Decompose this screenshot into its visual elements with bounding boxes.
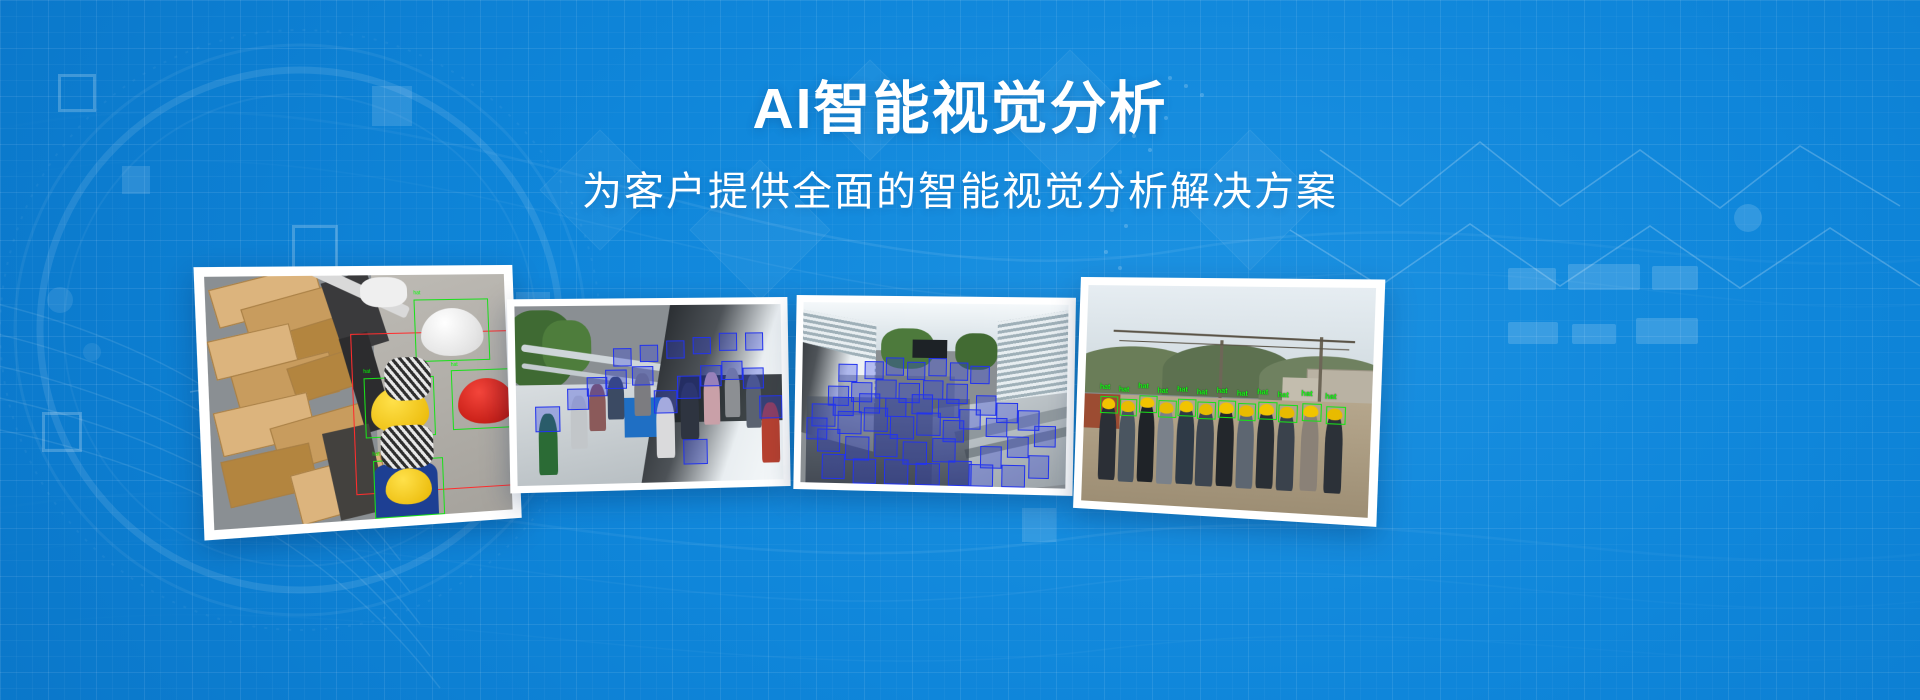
detection-box-person-11 <box>759 395 783 418</box>
detection-box-hat <box>1258 401 1278 420</box>
detection-box-hat <box>1278 404 1298 423</box>
detection-label-hat: hat <box>1257 389 1268 398</box>
ai-vision-banner: AI智能视觉分析 为客户提供全面的智能视觉分析解决方案 <box>0 0 1920 700</box>
detection-box-hat <box>1139 395 1158 413</box>
detection-box-hat-1 <box>414 298 491 362</box>
detection-box-person-15 <box>692 336 711 354</box>
detection-label-hat: hat <box>1325 393 1337 402</box>
detection-label-hat: hat <box>1301 390 1313 399</box>
detection-box-person-9 <box>721 361 742 381</box>
gallery-item-outdoor-hardhat-detection[interactable]: hat hat hat hat hat hat hat hat <box>1073 277 1385 527</box>
gallery-item-station-platform-crowd-detection[interactable] <box>793 295 1076 496</box>
gallery-item-warehouse-helmet-detection[interactable]: hat hat hat hat <box>193 265 521 541</box>
photo-4-scene: hat hat hat hat hat hat hat hat <box>1081 285 1376 518</box>
detection-box-person-1 <box>535 406 560 432</box>
detection-label-hat: hat <box>1138 383 1149 391</box>
photo-3-scene <box>800 302 1068 489</box>
detection-box-hat <box>1217 400 1236 418</box>
photo-1-scene: hat hat hat hat <box>204 274 513 530</box>
detection-box-person-18 <box>683 439 707 464</box>
detection-label-hat: hat <box>1157 388 1168 397</box>
banner-copy: AI智能视觉分析 为客户提供全面的智能视觉分析解决方案 <box>0 78 1920 217</box>
detection-box-person-14 <box>666 340 685 358</box>
detection-box-person-6 <box>653 390 677 413</box>
gallery-strip: hat hat hat hat <box>0 255 1920 545</box>
detection-label-hat-3: hat <box>451 362 458 368</box>
detection-box-person-12 <box>613 348 632 366</box>
detection-label-hat: hat <box>1217 387 1228 396</box>
detection-box-hat <box>1197 401 1216 419</box>
detection-label-hat-1: hat <box>413 290 420 296</box>
detection-label-hat-4: hat <box>372 452 380 459</box>
detection-label-hat-2: hat <box>363 369 371 375</box>
detection-box-hat <box>1302 403 1322 422</box>
detection-box-person-5 <box>632 366 654 386</box>
detection-box-person-10 <box>743 367 764 388</box>
detection-box-person-16 <box>718 333 737 351</box>
detection-label-hat: hat <box>1277 392 1289 401</box>
detection-box-hat <box>1237 403 1256 422</box>
detection-label-hat: hat <box>1197 389 1208 398</box>
detection-label-hat: hat <box>1100 384 1111 392</box>
detection-box-person-17 <box>745 332 764 350</box>
detection-box-person-7 <box>677 375 701 398</box>
detection-box-person-13 <box>639 344 658 362</box>
page-title: AI智能视觉分析 <box>0 78 1920 141</box>
detection-box-hat <box>1158 400 1177 418</box>
page-subtitle: 为客户提供全面的智能视觉分析解决方案 <box>0 167 1920 217</box>
detection-box-hat <box>1178 398 1197 416</box>
gallery-item-footbridge-crowd-detection[interactable] <box>507 297 791 493</box>
detection-box-hat <box>1326 406 1346 425</box>
detection-label-hat: hat <box>1119 386 1130 394</box>
detection-label-hat: hat <box>1177 386 1188 395</box>
detection-box-hat <box>1119 398 1137 416</box>
detection-box-hat-3 <box>451 368 513 430</box>
detection-box-person-8 <box>700 364 721 385</box>
detection-label-hat: hat <box>1237 390 1248 399</box>
photo-2-scene <box>514 304 783 486</box>
detection-box-hat <box>1100 396 1118 414</box>
detection-box-person-4 <box>605 369 627 389</box>
